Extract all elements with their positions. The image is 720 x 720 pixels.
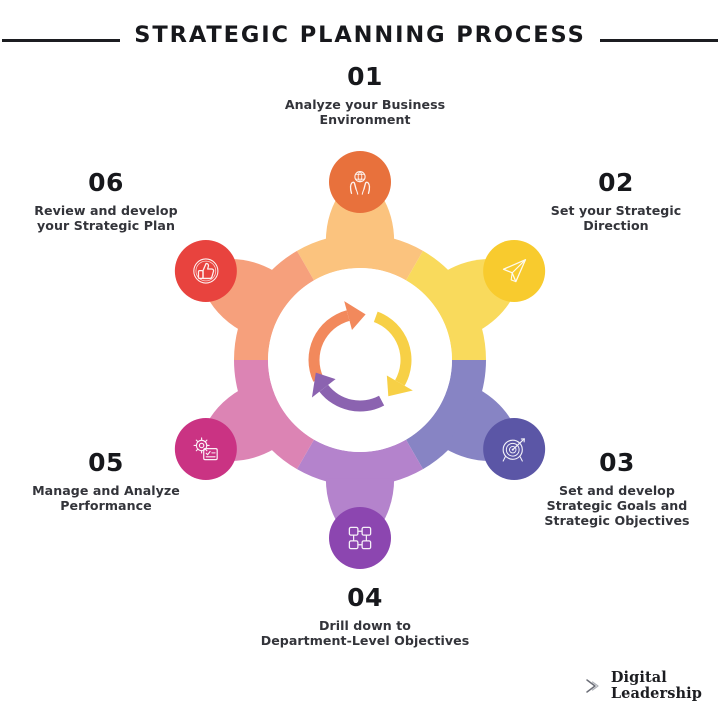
step-03: 03 Set and develop Strategic Goals and S…: [518, 448, 716, 529]
step-01-label: Analyze your Business Environment: [245, 97, 485, 128]
step-badge-06[interactable]: [175, 240, 237, 302]
step-04-label: Drill down to Department-Level Objective…: [230, 618, 500, 649]
step-03-number: 03: [518, 448, 716, 479]
step-01: 01 Analyze your Business Environment: [245, 62, 485, 127]
badge-disc-06: [175, 240, 237, 302]
step-02: 02 Set your Strategic Direction: [518, 168, 714, 233]
step-02-number: 02: [518, 168, 714, 199]
step-05-label: Manage and Analyze Performance: [8, 483, 204, 514]
step-05-number: 05: [8, 448, 204, 479]
brand-name: Digital Leadership: [611, 670, 702, 702]
step-badge-04[interactable]: [329, 507, 391, 569]
double-chevron-right-icon: [584, 676, 602, 696]
step-06: 06 Review and develop your Strategic Pla…: [8, 168, 204, 233]
step-badge-02[interactable]: [483, 240, 545, 302]
step-04: 04 Drill down to Department-Level Object…: [230, 583, 500, 648]
step-01-number: 01: [245, 62, 485, 93]
wheel-center-disc: [268, 268, 452, 452]
step-05: 05 Manage and Analyze Performance: [8, 448, 204, 513]
step-02-label: Set your Strategic Direction: [518, 203, 714, 234]
brand-logo: Digital Leadership: [584, 670, 702, 702]
step-06-number: 06: [8, 168, 204, 199]
step-06-label: Review and develop your Strategic Plan: [8, 203, 204, 234]
step-03-label: Set and develop Strategic Goals and Stra…: [518, 483, 716, 529]
badge-disc-04: [329, 507, 391, 569]
step-04-number: 04: [230, 583, 500, 614]
step-badge-01[interactable]: [329, 151, 391, 213]
cycle-diagram: 01 Analyze your Business Environment 02 …: [0, 0, 720, 720]
